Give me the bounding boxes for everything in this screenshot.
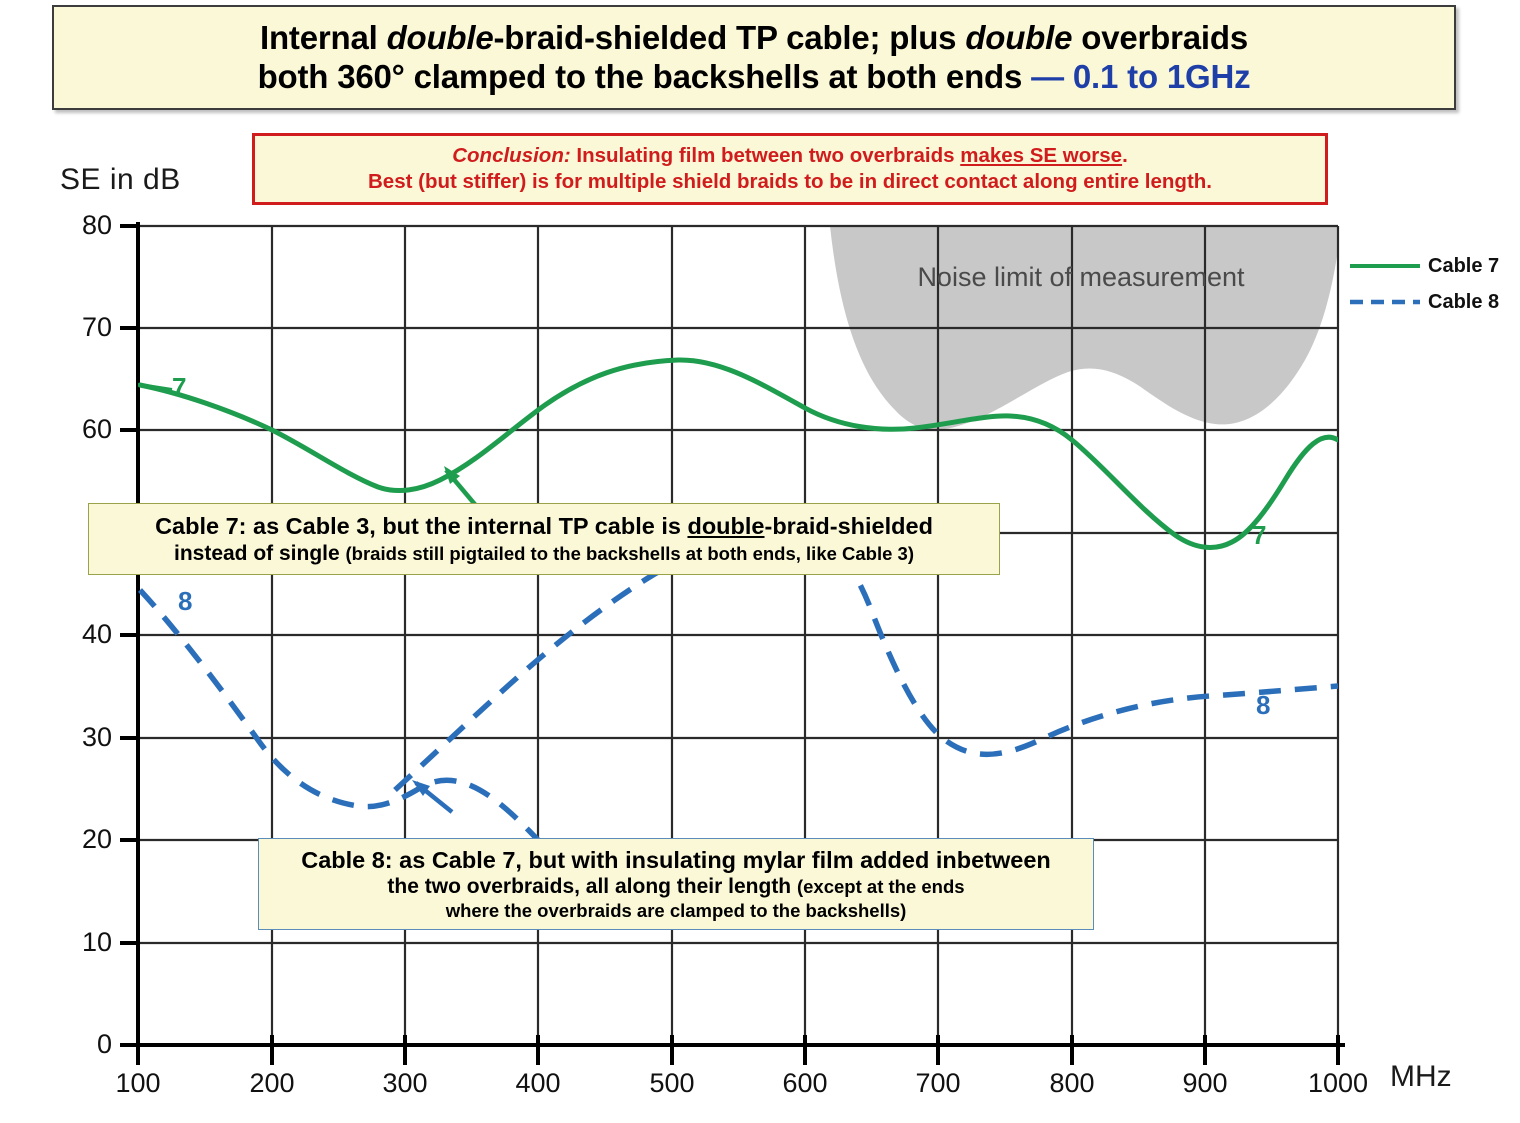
x-tick-label: 1000: [1293, 1068, 1383, 1099]
cable7-curve-tag-right: 7: [1252, 520, 1266, 551]
cable7-curve-tag-left: 7: [172, 372, 186, 403]
x-axis-ticks: [138, 1035, 1338, 1065]
x-tick-label: 900: [1160, 1068, 1250, 1099]
x-tick-label: 500: [627, 1068, 717, 1099]
y-tick-label: 80: [50, 210, 112, 241]
x-tick-label: 300: [360, 1068, 450, 1099]
x-tick-label: 600: [760, 1068, 850, 1099]
chart-page: Internal double-braid-shielded TP cable;…: [0, 0, 1520, 1123]
legend-item-cable-8[interactable]: Cable 8: [1348, 284, 1518, 320]
y-tick-label: 10: [50, 927, 112, 958]
callout-cable-7-line-1: Cable 7: as Cable 3, but the internal TP…: [155, 512, 933, 540]
cable7-callout-arrow: [444, 466, 478, 508]
legend-swatch-solid-icon: [1348, 259, 1422, 273]
cable8-curve-tag-right: 8: [1256, 690, 1270, 721]
x-tick-label: 800: [1027, 1068, 1117, 1099]
legend-label-cable-7: Cable 7: [1428, 255, 1499, 278]
y-tick-label: 0: [50, 1029, 112, 1060]
legend-item-cable-7[interactable]: Cable 7: [1348, 248, 1518, 284]
callout-cable-8-line-2: the two overbraids, all along their leng…: [387, 874, 964, 899]
y-tick-label: 60: [50, 414, 112, 445]
callout-cable-8-line-1: Cable 8: as Cable 7, but with insulating…: [301, 846, 1051, 874]
x-tick-label: 200: [227, 1068, 317, 1099]
x-tick-label: 100: [93, 1068, 183, 1099]
legend-swatch-dashed-icon: [1348, 295, 1422, 309]
cable8-curve-tag-left: 8: [178, 586, 192, 617]
callout-cable-7: Cable 7: as Cable 3, but the internal TP…: [88, 503, 1000, 575]
callout-cable-8-line-3: where the overbraids are clamped to the …: [446, 900, 907, 922]
cable8-callout-arrow: [412, 780, 452, 812]
cable7-leader-left: [140, 385, 172, 390]
x-tick-label: 700: [893, 1068, 983, 1099]
noise-limit-label: Noise limit of measurement: [866, 262, 1296, 293]
callout-cable-8: Cable 8: as Cable 7, but with insulating…: [258, 838, 1094, 930]
callout-cable-7-line-2: instead of single (braids still pigtaile…: [174, 541, 914, 566]
y-tick-label: 40: [50, 619, 112, 650]
y-tick-label: 70: [50, 312, 112, 343]
legend-label-cable-8: Cable 8: [1428, 291, 1499, 314]
x-tick-label: 400: [493, 1068, 583, 1099]
y-tick-label: 20: [50, 824, 112, 855]
legend: Cable 7 Cable 8: [1348, 248, 1518, 320]
y-tick-label: 30: [50, 722, 112, 753]
